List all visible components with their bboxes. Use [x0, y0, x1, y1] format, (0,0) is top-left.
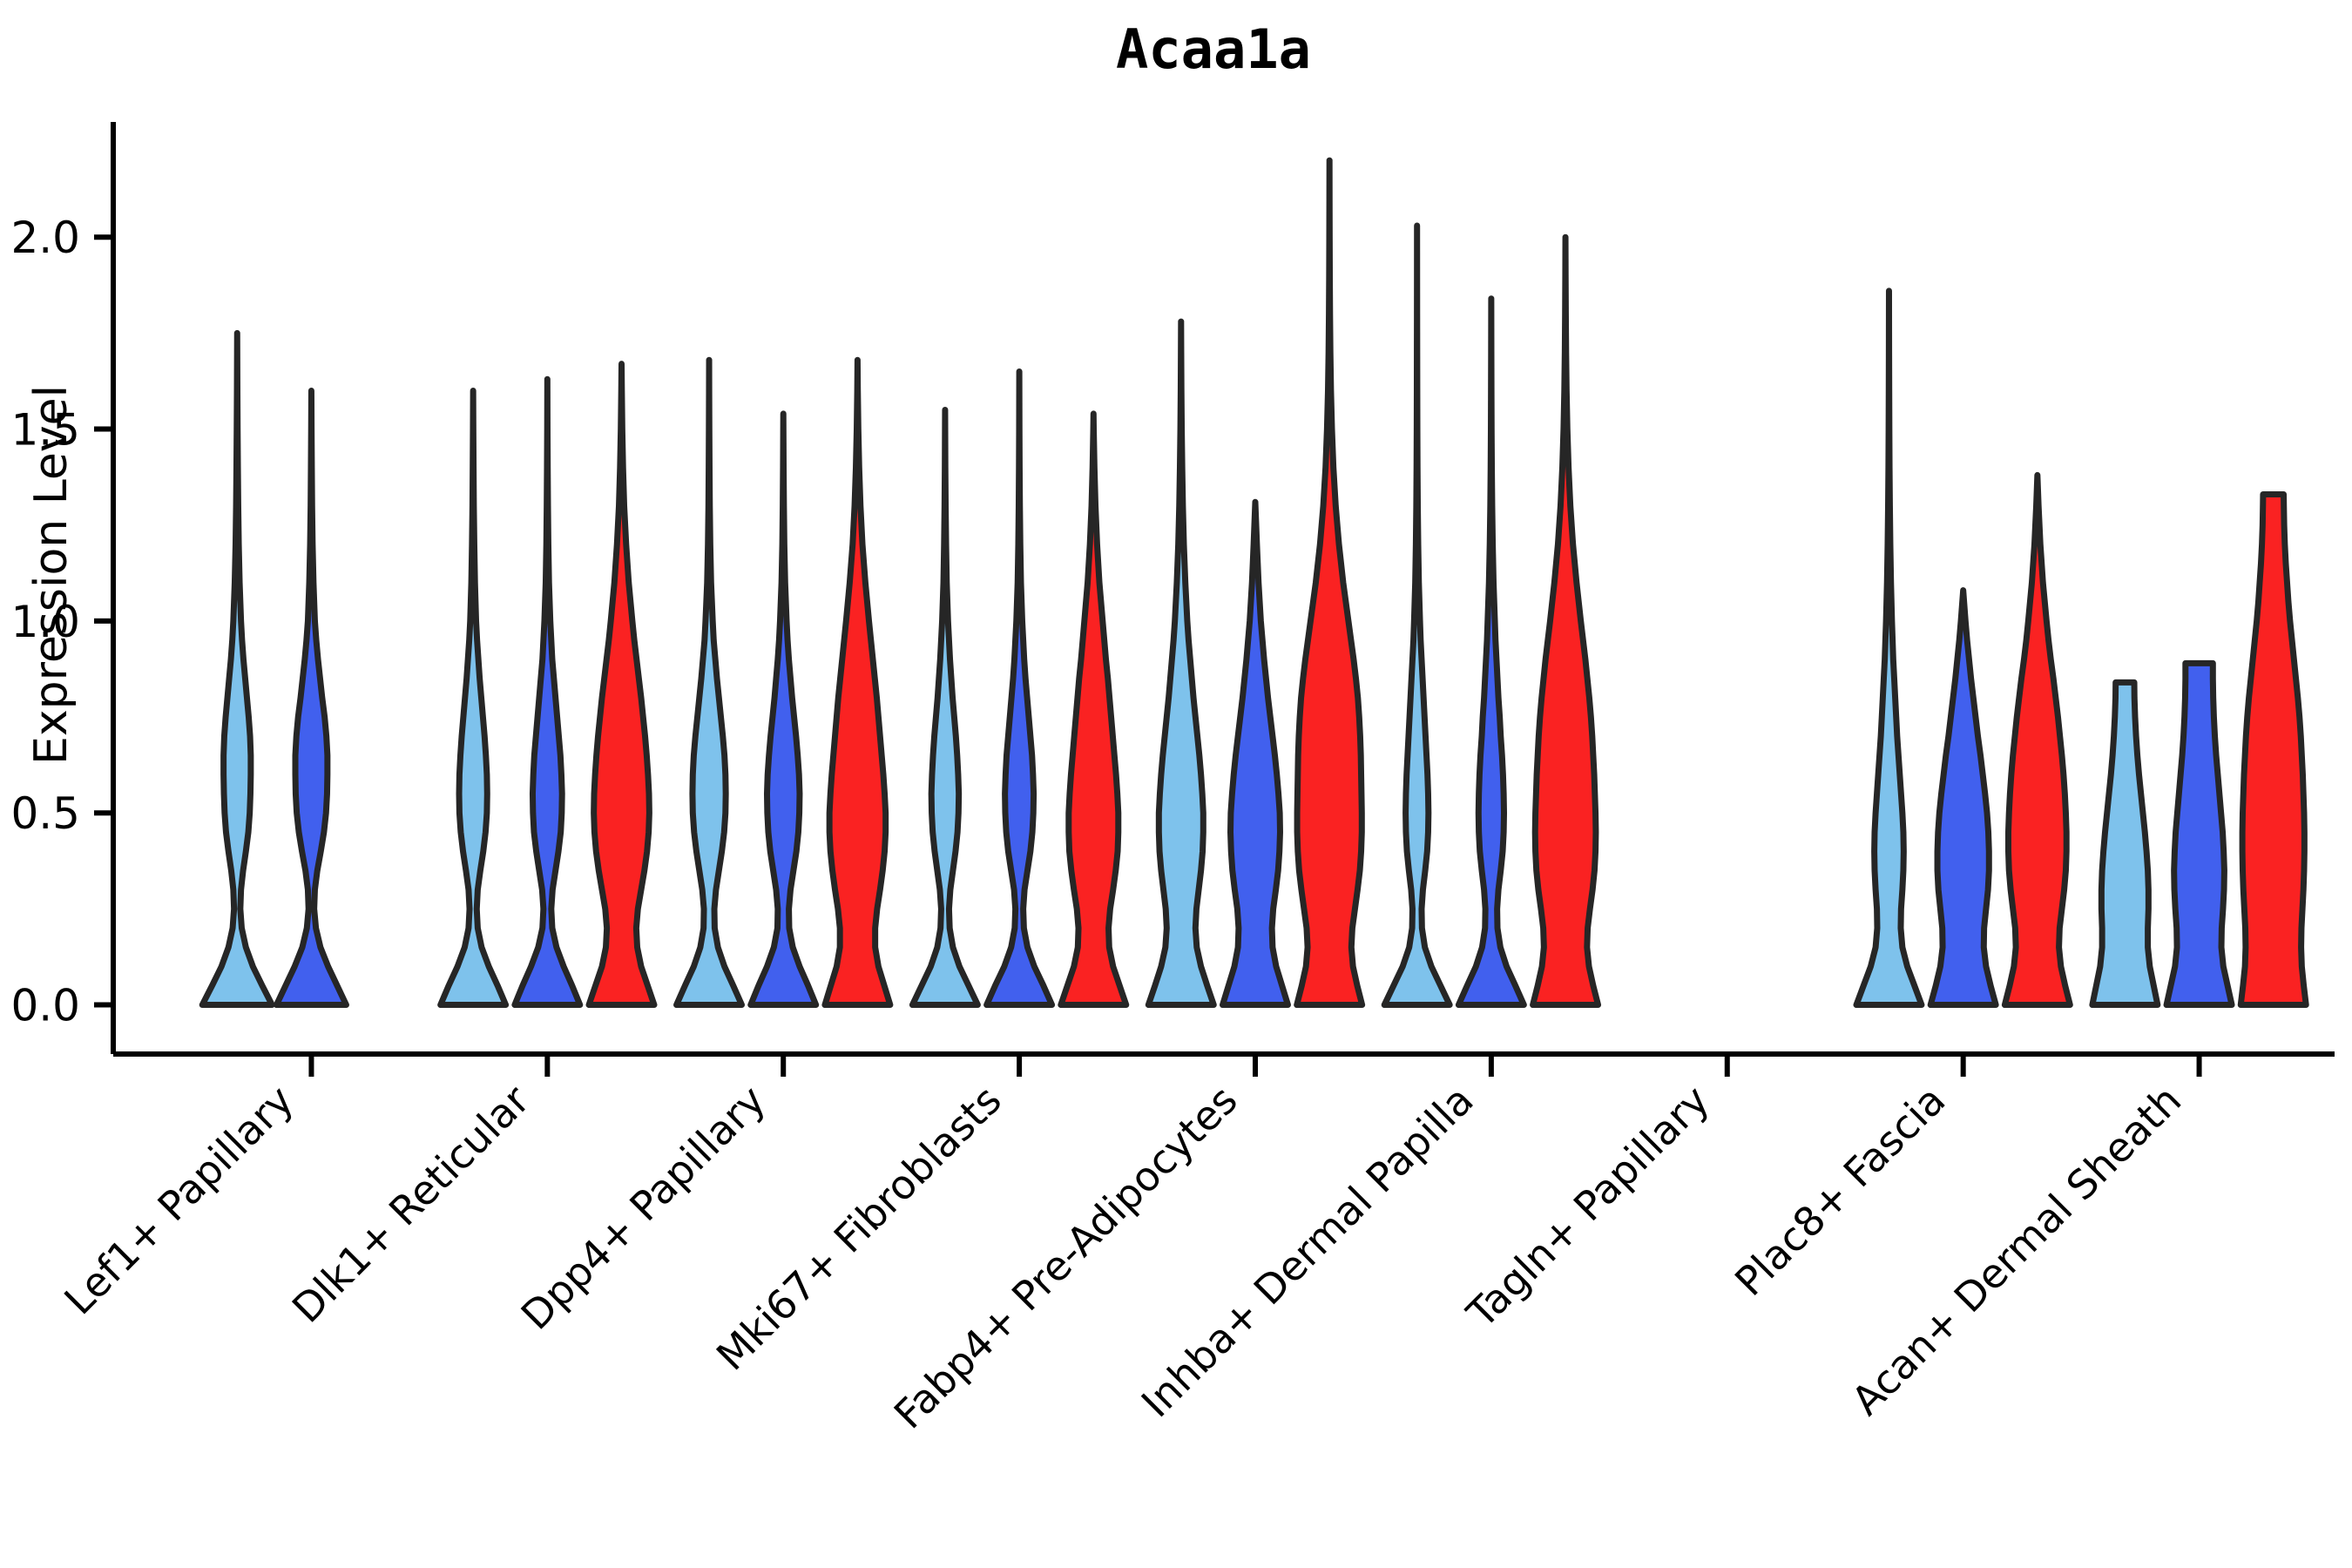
y-tick-label: 1.0: [10, 597, 80, 647]
y-tick-label: 0.5: [10, 788, 80, 839]
y-tick-label: 0.0: [10, 981, 80, 1031]
violin-plot-figure: Acaa1a Expression Level 0.00.51.01.52.0 …: [0, 0, 2352, 1568]
violin-plot-canvas: Acaa1a Expression Level 0.00.51.01.52.0 …: [0, 0, 2352, 1568]
y-tick-label: 2.0: [10, 213, 80, 263]
y-tick-label: 1.5: [10, 405, 80, 456]
chart-title: Acaa1a: [1116, 17, 1311, 81]
